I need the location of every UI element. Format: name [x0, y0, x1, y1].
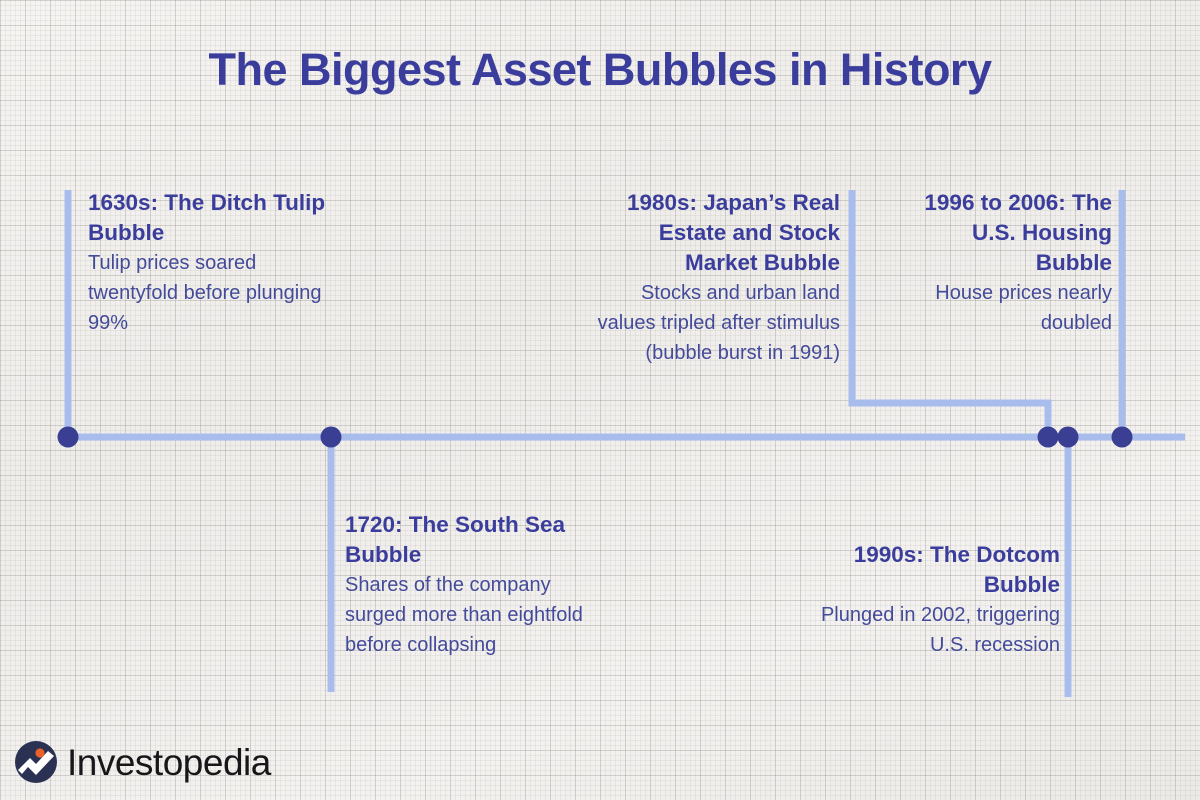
timeline-node-dotcom [1058, 427, 1079, 448]
entry-detail: House prices nearly doubled [890, 278, 1112, 338]
timeline-node-housing [1112, 427, 1133, 448]
entry-headline: 1980s: Japan’s Real Estate and Stock Mar… [580, 188, 840, 278]
timeline-graphic [0, 0, 1200, 800]
timeline-entry-japan: 1980s: Japan’s Real Estate and Stock Mar… [580, 188, 840, 368]
infographic-canvas: The Biggest Asset Bubbles in History [0, 0, 1200, 800]
entry-headline: 1996 to 2006: The U.S. Housing Bubble [890, 188, 1112, 278]
timeline-node-japan [1038, 427, 1059, 448]
timeline-entry-south-sea: 1720: The South Sea Bubble Shares of the… [345, 510, 595, 660]
investopedia-i-mark-icon [14, 740, 58, 784]
entry-detail: Plunged in 2002, triggering U.S. recessi… [820, 600, 1060, 660]
entry-headline: 1630s: The Ditch Tulip Bubble [88, 188, 328, 248]
entry-headline: 1990s: The Dotcom Bubble [820, 540, 1060, 600]
investopedia-logo: Investopedia [14, 740, 271, 784]
timeline-node-tulip [58, 427, 79, 448]
timeline-entry-dotcom: 1990s: The Dotcom Bubble Plunged in 2002… [820, 540, 1060, 660]
entry-detail: Shares of the company surged more than e… [345, 570, 595, 660]
timeline-entry-tulip: 1630s: The Ditch Tulip Bubble Tulip pric… [88, 188, 328, 338]
entry-headline: 1720: The South Sea Bubble [345, 510, 595, 570]
timeline-node-south [321, 427, 342, 448]
timeline-entry-housing: 1996 to 2006: The U.S. Housing Bubble Ho… [890, 188, 1112, 338]
logo-wordmark: Investopedia [67, 744, 271, 781]
entry-detail: Stocks and urban land values tripled aft… [580, 278, 840, 368]
entry-detail: Tulip prices soared twentyfold before pl… [88, 248, 328, 338]
